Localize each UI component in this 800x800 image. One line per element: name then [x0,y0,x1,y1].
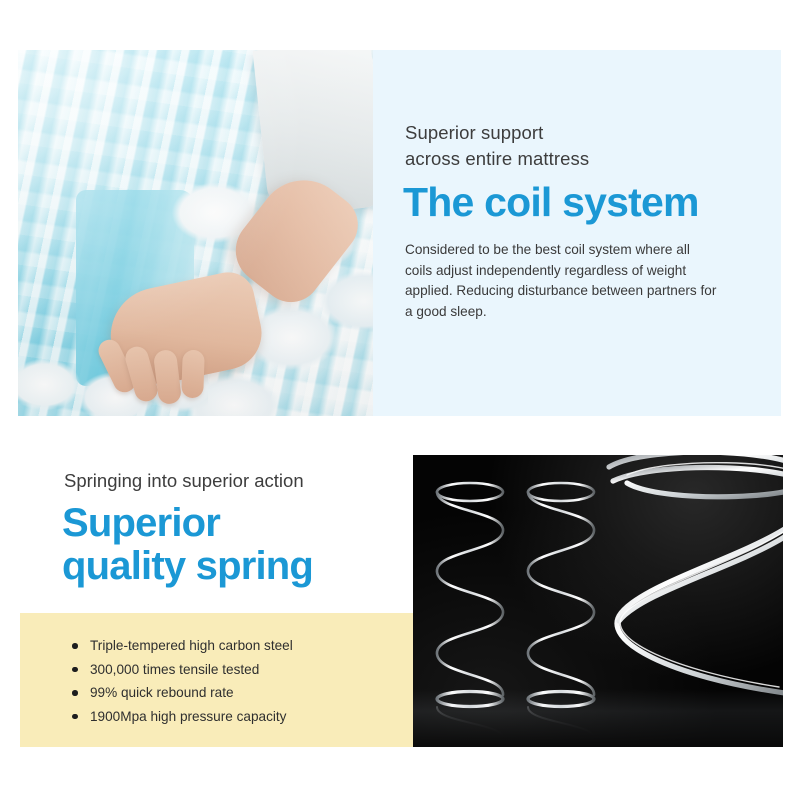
quality-spring-heading-line-1: Superior [62,502,313,545]
quality-spring-eyebrow: Springing into superior action [64,468,304,494]
quality-spring-heading: Superior quality spring [62,502,313,588]
spring-1 [437,483,503,707]
list-item: Triple-tempered high carbon steel [72,635,415,656]
coil-system-section: Superior support across entire mattress … [18,50,781,416]
spring-2 [528,483,594,707]
product-info-page: Superior support across entire mattress … [0,0,800,800]
coil-system-body-text: Considered to be the best coil system wh… [405,240,717,322]
photo-shading-overlay [18,50,373,416]
coil-system-heading: The coil system [403,180,699,225]
mattress-pocket-coils-photo [18,50,373,416]
coil-system-text-panel: Superior support across entire mattress … [373,50,781,416]
metal-coil-springs-photo [413,455,783,747]
quality-spring-heading-line-2: quality spring [62,545,313,588]
coil-system-eyebrow: Superior support across entire mattress [405,120,589,172]
list-item: 1900Mpa high pressure capacity [72,706,415,727]
spring-features-list: Triple-tempered high carbon steel 300,00… [20,613,415,727]
quality-spring-section: Springing into superior action Superior … [0,440,800,770]
list-item: 300,000 times tensile tested [72,659,415,680]
list-item: 99% quick rebound rate [72,682,415,703]
spring-features-panel: Triple-tempered high carbon steel 300,00… [20,613,415,747]
coil-system-eyebrow-line-2: across entire mattress [405,146,589,172]
coil-system-eyebrow-line-1: Superior support [405,120,589,146]
spring-floor-glow [413,689,783,747]
